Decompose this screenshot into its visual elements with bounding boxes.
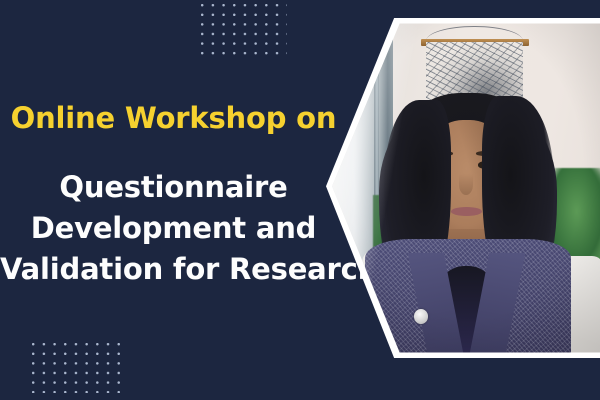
promo-text-block: Online Workshop on Questionnaire Develop… (0, 104, 355, 291)
headline-line-1: Questionnaire (0, 167, 347, 208)
workshop-promo-banner: Online Workshop on Questionnaire Develop… (0, 0, 600, 400)
headline: Questionnaire Development and Validation… (0, 167, 355, 291)
bottom-dot-grid-decoration (32, 343, 127, 393)
headline-line-2: Development and (0, 208, 347, 249)
headline-spacer (0, 139, 355, 167)
headline-line-3: Validation for Research (0, 249, 347, 290)
speaker-photo-clip (326, 18, 600, 358)
speaker-photo (326, 18, 600, 358)
kicker-text: Online Workshop on (0, 104, 355, 133)
top-dot-grid-decoration (201, 4, 287, 60)
speaker-photo-frame (326, 18, 600, 358)
photo-left-highlight (326, 18, 418, 358)
